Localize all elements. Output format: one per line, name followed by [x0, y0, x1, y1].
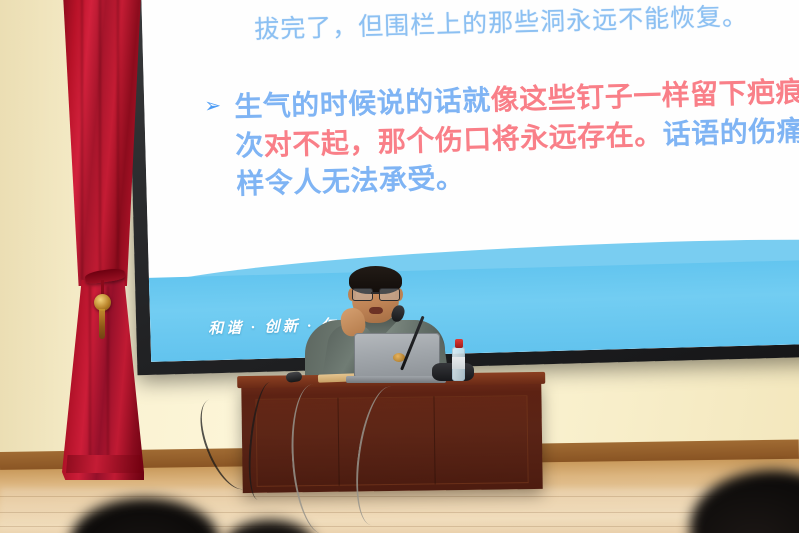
slide-text-run: 次 — [235, 129, 264, 161]
slide-bullet-block: ➢ 生气的时候说的话就像这些钉子一样留下疤痕 次对不起，那个伤口将永远存在。话语… — [204, 72, 799, 205]
slide-text-body: 拔完了，但围栏上的那些洞永远不能恢复。 ➢ 生气的时候说的话就像这些钉子一样留下… — [202, 0, 799, 205]
tassel-tail — [99, 309, 105, 339]
laptop-lid — [354, 333, 440, 377]
laptop — [352, 333, 442, 381]
slide-text-run: 话语的伤痛和 — [662, 114, 799, 150]
lecture-hall-scene: 拔完了，但围栏上的那些洞永远不能恢复。 ➢ 生气的时候说的话就像这些钉子一样留下… — [0, 0, 799, 533]
red-stage-curtain — [55, 0, 147, 494]
glasses-lens — [352, 288, 373, 301]
curtain-hem — [66, 455, 142, 473]
curtain-fold — [107, 286, 109, 461]
slide-top-line: 拔完了，但围栏上的那些洞永远不能恢复。 — [254, 0, 799, 46]
slide-text-run: 对不起，那个伤口将永远存在。 — [263, 119, 663, 161]
arrow-bullet-icon: ➢ — [204, 96, 235, 117]
floor-plank — [0, 496, 799, 497]
curtain-fold — [99, 0, 101, 280]
curtain-fold — [89, 286, 91, 461]
curtain-fold — [117, 0, 119, 274]
projection-screen: 拔完了，但围栏上的那些洞永远不能恢复。 ➢ 生气的时候说的话就像这些钉子一样留下… — [141, 0, 799, 362]
curtain-fold — [81, 0, 83, 280]
glasses-bridge — [371, 292, 379, 294]
slide-bullet-text: 生气的时候说的话就像这些钉子一样留下疤痕 次对不起，那个伤口将永远存在。话语的伤… — [234, 72, 799, 204]
glasses-icon — [351, 288, 400, 299]
speaker-mouth — [369, 307, 383, 314]
bottle-label — [452, 357, 465, 369]
projection-screen-frame: 拔完了，但围栏上的那些洞永远不能恢复。 ➢ 生气的时候说的话就像这些钉子一样留下… — [127, 0, 799, 375]
laptop-base — [346, 376, 446, 383]
curtain-upper-drape — [63, 0, 141, 286]
slide-text-run: 生气的时候说的话就 — [234, 85, 491, 123]
slide-footer-band — [149, 260, 799, 362]
slide-text-run: 像这些钉子一样留下疤痕 — [490, 76, 799, 115]
bottle-cap — [455, 339, 463, 348]
slide-text-run: 样令人无法承受。 — [236, 163, 465, 200]
glasses-lens — [379, 288, 400, 301]
water-bottle — [452, 339, 465, 381]
